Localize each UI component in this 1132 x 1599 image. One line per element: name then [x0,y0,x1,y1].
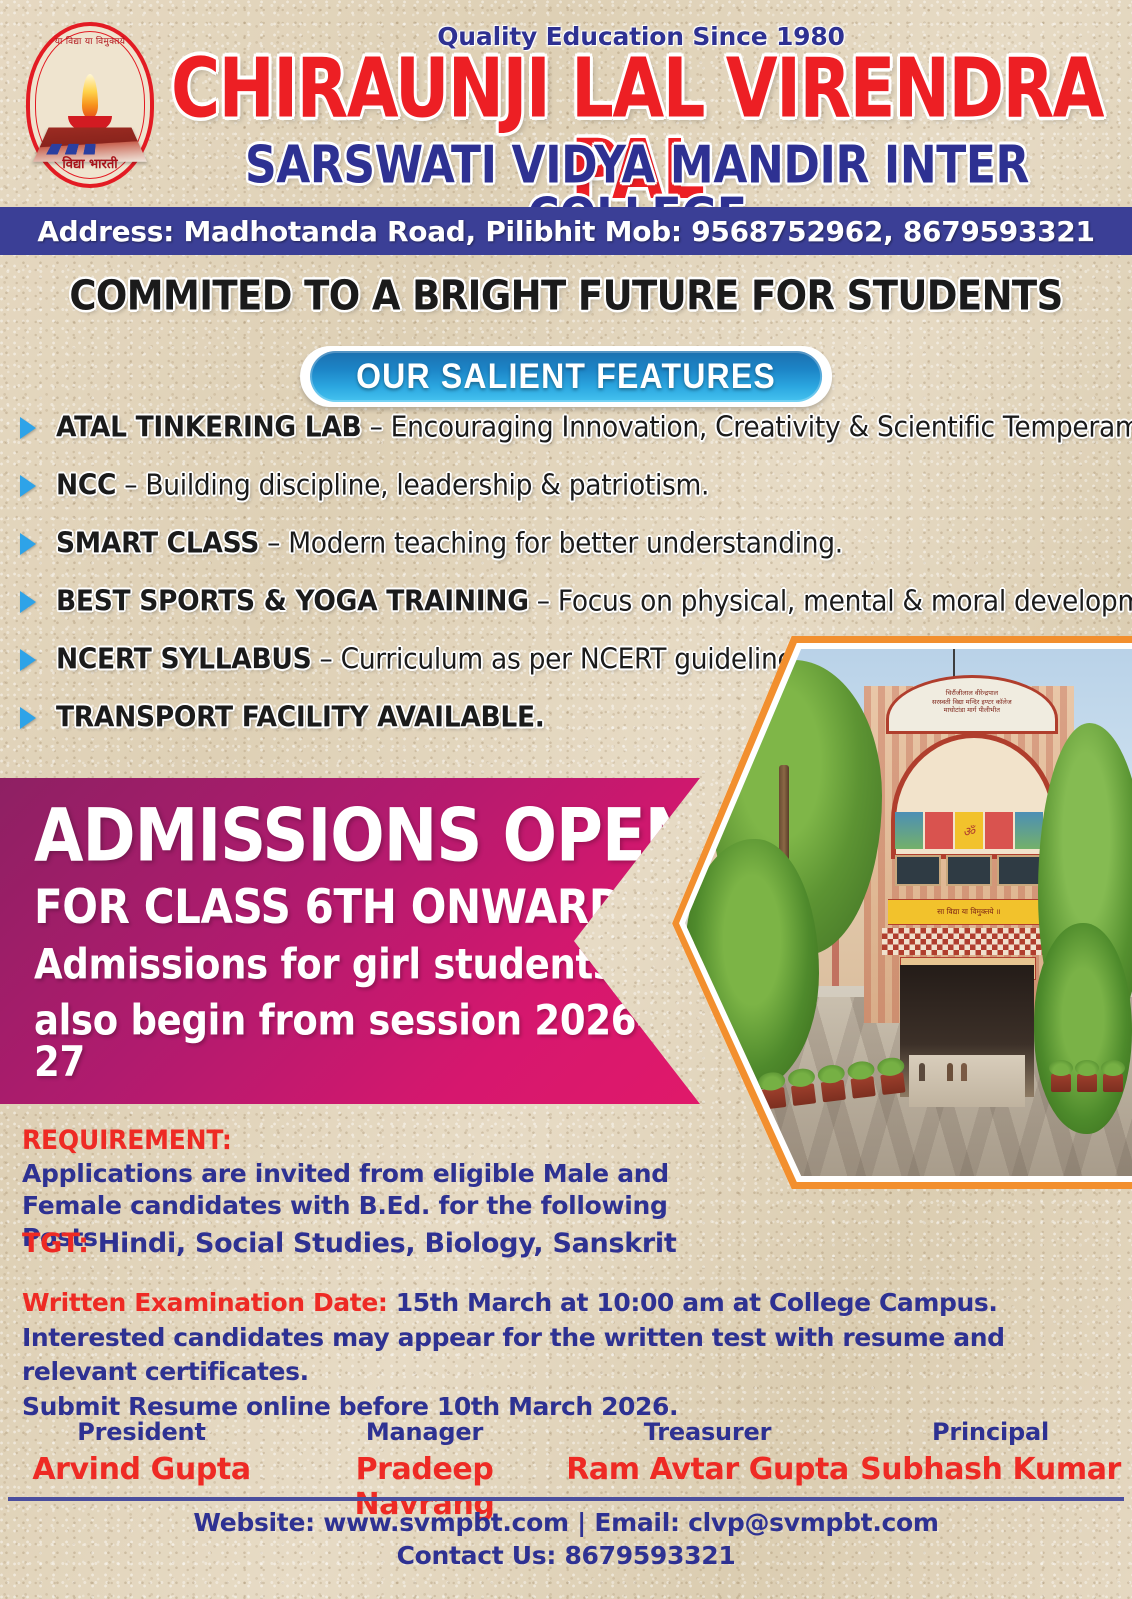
feature-dash: – [259,527,288,560]
footer-contact: Contact Us: 8679593321 [0,1541,1132,1570]
feature-title: BEST SPORTS & YOGA TRAINING [56,585,529,618]
photo-planter-row [1034,997,1123,1092]
photo-checker-band [882,928,1056,954]
feature-title: NCC [56,469,116,502]
commitment-headline: COMMITED TO A BRIGHT FUTURE FOR STUDENTS [0,272,1132,319]
feature-text: ATAL TINKERING LAB – Encouraging Innovat… [56,411,1132,444]
triangle-bullet-icon [20,475,36,497]
photo-motto-text: सा विद्या या विमुक्तये ॥ [937,907,1000,917]
requirement-heading: REQUIREMENT: [22,1124,232,1155]
logo-sanskrit-top-text: या विद्या या विमुक्तये [26,34,154,47]
feature-item: ATAL TINKERING LAB – Encouraging Innovat… [16,412,1116,444]
official-role: Treasurer [566,1418,849,1446]
feature-desc: Focus on physical, mental & moral develo… [558,585,1132,618]
exam-date-line: Written Examination Date: 15th March at … [22,1286,1122,1321]
feature-desc: Modern teaching for better understanding… [288,527,843,560]
salient-features-badge: OUR SALIENT FEATURES [300,346,832,407]
feature-dash: – [529,585,558,618]
official-name: Subhash Kumar [849,1452,1132,1487]
official-name: Arvind Gupta [0,1452,283,1487]
feature-text: NCC – Building discipline, leadership & … [56,469,709,502]
feature-item: SMART CLASS – Modern teaching for better… [16,528,1116,560]
exam-note-line: Interested candidates may appear for the… [22,1321,1122,1390]
feature-text: NCERT SYLLABUS – Curriculum as per NCERT… [56,643,815,676]
footer-website-email: Website: www.svmpbt.com | Email: clvp@sv… [0,1508,1132,1537]
admissions-headline: ADMISSIONS OPEN [34,800,697,873]
feature-desc: Curriculum as per NCERT guidelines. [341,643,815,676]
official-role: President [0,1418,283,1446]
exam-date-label: Written Examination Date: [22,1288,387,1317]
salient-features-label: OUR SALIENT FEATURES [356,356,776,397]
triangle-bullet-icon [20,533,36,555]
admission-poster: या विद्या या विमुक्तये विद्या भारती Qual… [0,0,1132,1599]
feature-title: TRANSPORT FACILITY AVAILABLE. [56,701,545,734]
official-president: President Arvind Gupta [0,1418,283,1487]
photo-motto-banner: सा विद्या या विमुक्तये ॥ [888,899,1049,925]
logo-sanskrit-bottom-text: विद्या भारती [26,154,154,172]
feature-title: SMART CLASS [56,527,259,560]
tgt-label: TGT: [22,1228,89,1259]
officials-row: President Arvind Gupta Manager Pradeep N… [0,1418,1132,1522]
photo-signboard-text: चिरौंजीलाल वीरेन्द्रपाल सरस्वती विद्या म… [889,689,1054,715]
feature-dash: – [361,411,390,444]
address-text: Address: Madhotanda Road, Pilibhit Mob: … [37,215,1094,248]
footer-divider [8,1497,1124,1501]
official-manager: Manager Pradeep Navrang [283,1418,566,1522]
feature-item: BEST SPORTS & YOGA TRAINING – Focus on p… [16,586,1116,618]
admissions-girls-line-2: also begin from session 2026-27 [34,1000,700,1083]
feature-title: NCERT SYLLABUS [56,643,311,676]
triangle-bullet-icon [20,591,36,613]
feature-item: NCC – Building discipline, leadership & … [16,470,1116,502]
address-bar: Address: Madhotanda Road, Pilibhit Mob: … [0,207,1132,255]
feature-text: TRANSPORT FACILITY AVAILABLE. [56,701,545,734]
feature-title: ATAL TINKERING LAB [56,411,361,444]
vidya-bharati-logo-icon: या विद्या या विमुक्तये विद्या भारती [26,22,154,188]
feature-text: SMART CLASS – Modern teaching for better… [56,527,843,560]
admissions-banner: ADMISSIONS OPEN FOR CLASS 6TH ONWARDS Ad… [0,778,700,1104]
feature-dash: – [311,643,340,676]
tgt-subjects: Hindi, Social Studies, Biology, Sanskrit [89,1228,677,1259]
feature-text: BEST SPORTS & YOGA TRAINING – Focus on p… [56,585,1132,618]
poster-footer: Website: www.svmpbt.com | Email: clvp@sv… [0,1508,1132,1570]
tgt-posts-line: TGT: Hindi, Social Studies, Biology, San… [22,1228,922,1259]
official-role: Principal [849,1418,1132,1446]
feature-dash: – [116,469,145,502]
photo-decorative-panels [895,812,1043,849]
admissions-girls-line-1: Admissions for girl students [34,944,615,985]
official-principal: Principal Subhash Kumar [849,1418,1132,1487]
poster-header: या विद्या या विमुक्तये विद्या भारती Qual… [0,0,1132,196]
exam-date-value: 15th March at 10:00 am at College Campus… [387,1288,997,1317]
triangle-bullet-icon [20,417,36,439]
exam-details-block: Written Examination Date: 15th March at … [22,1286,1122,1424]
feature-desc: Encouraging Innovation, Creativity & Sci… [391,411,1132,444]
admissions-class-line: FOR CLASS 6TH ONWARDS [34,884,653,931]
official-role: Manager [283,1418,566,1446]
official-treasurer: Treasurer Ram Avtar Gupta [566,1418,849,1487]
official-name: Ram Avtar Gupta [566,1452,849,1487]
triangle-bullet-icon [20,707,36,729]
photo-windows [895,855,1043,887]
feature-desc: Building discipline, leadership & patrio… [145,469,709,502]
triangle-bullet-icon [20,649,36,671]
